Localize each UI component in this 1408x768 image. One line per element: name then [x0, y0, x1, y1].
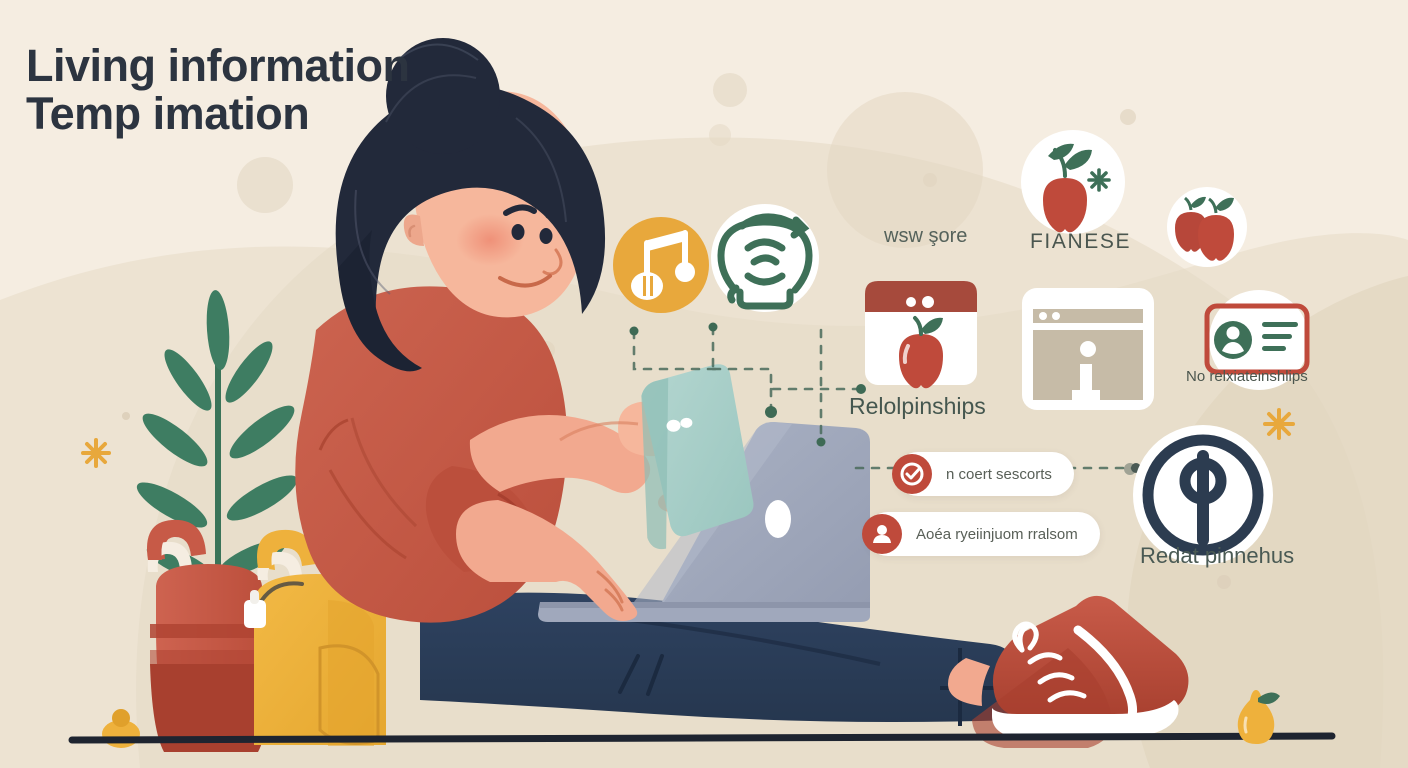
apple-leaf-icon[interactable] — [1021, 130, 1125, 234]
label-no-relationships: No relxiateinshlips — [1186, 368, 1308, 385]
voice-recognition-icon[interactable] — [711, 204, 819, 312]
page-title: Living information Temp imation — [26, 42, 409, 137]
illustration-canvas: Living information Temp imation wsw şore… — [0, 0, 1408, 768]
pill-badge-check[interactable]: n coert sescorts — [896, 452, 1074, 496]
browser-apple-window-icon[interactable] — [865, 281, 977, 388]
label-redat-pinnehus: Redat pinnehus — [1140, 543, 1294, 569]
title-line-2: Temp imation — [26, 90, 409, 138]
ground-baseline — [72, 736, 1332, 740]
label-fianese: FIANESE — [1030, 230, 1131, 254]
asterisk-right-icon — [1265, 410, 1293, 438]
asterisk-left-icon — [83, 440, 109, 466]
music-note-icon[interactable] — [613, 217, 709, 313]
pill-badge-person-label: Aoéa ryeiinjuom rralsom — [902, 526, 1100, 543]
title-line-1: Living information — [26, 42, 409, 90]
pill-badge-check-label: n coert sescorts — [932, 466, 1074, 483]
two-apples-icon[interactable] — [1167, 187, 1247, 267]
label-wsw-sore: wsw şore — [884, 225, 967, 248]
person-icon — [862, 514, 902, 554]
pill-badge-person[interactable]: Aoéa ryeiinjuom rralsom — [866, 512, 1100, 556]
info-window-icon[interactable] — [1022, 288, 1154, 410]
check-circle-icon — [892, 454, 932, 494]
label-relationships: Relolpinships — [849, 393, 986, 420]
